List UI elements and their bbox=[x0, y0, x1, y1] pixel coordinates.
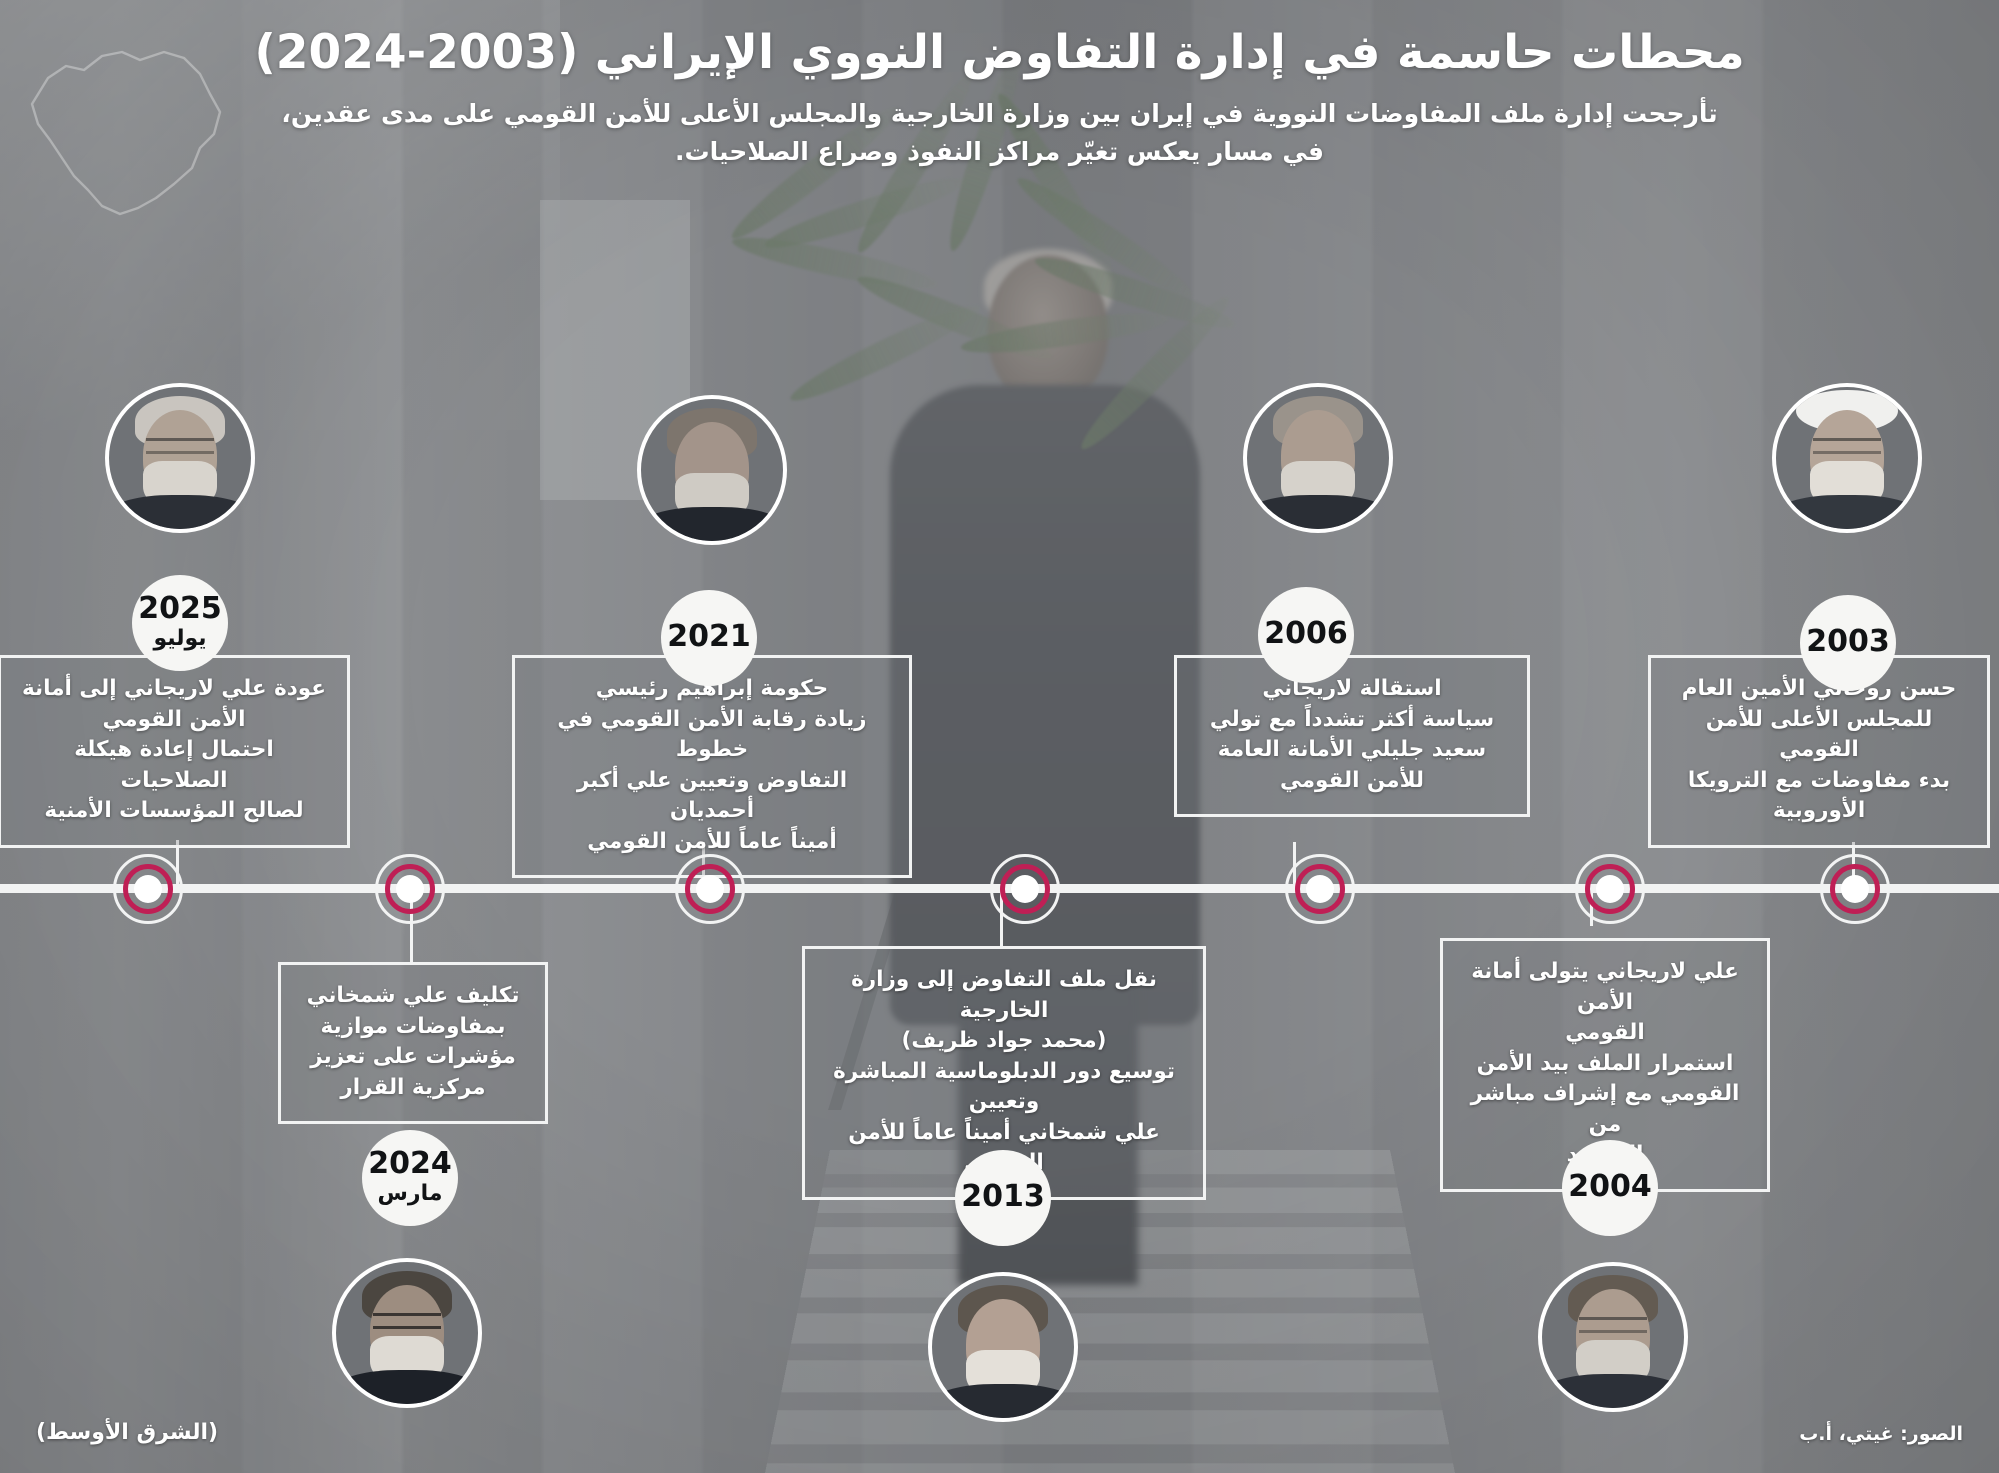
event-2025-line-2: الأمن القومي bbox=[19, 705, 329, 736]
event-card-2025[interactable]: عودة علي لاريجاني إلى أمانة الأمن القومي… bbox=[0, 655, 350, 848]
year-label-2004: 2004 bbox=[1568, 1172, 1652, 1202]
year-bubble-2003[interactable]: 2003 bbox=[1800, 595, 1896, 691]
header: محطات حاسمة في إدارة التفاوض النووي الإي… bbox=[0, 24, 1999, 170]
year-label-2003: 2003 bbox=[1806, 627, 1890, 657]
timeline-node-2024[interactable] bbox=[375, 854, 445, 924]
year-label-2013: 2013 bbox=[961, 1182, 1045, 1212]
event-2021-line-4: أميناً عاماً للأمن القومي bbox=[533, 827, 891, 858]
infographic-canvas: محطات حاسمة في إدارة التفاوض النووي الإي… bbox=[0, 0, 1999, 1473]
year-label-2024: 2024 bbox=[368, 1149, 452, 1179]
event-2003-line-2: للمجلس الأعلى للأمن القومي bbox=[1669, 705, 1969, 766]
event-card-2003[interactable]: حسن روحاني الأمين العام للمجلس الأعلى لل… bbox=[1648, 655, 1990, 848]
page-subtitle-line-1: تأرجحت إدارة ملف المفاوضات النووية في إي… bbox=[150, 95, 1849, 133]
portrait-2021 bbox=[637, 395, 787, 545]
event-2024-line-4: مركزية القرار bbox=[299, 1073, 527, 1104]
timeline-node-2003[interactable] bbox=[1820, 854, 1890, 924]
event-2025-line-1: عودة علي لاريجاني إلى أمانة bbox=[19, 674, 329, 705]
portrait-2013 bbox=[928, 1272, 1078, 1422]
year-bubble-2025[interactable]: 2025 يوليو bbox=[132, 575, 228, 671]
month-label-2025: يوليو bbox=[153, 626, 206, 651]
event-2025-line-3: احتمال إعادة هيكلة الصلاحيات bbox=[19, 735, 329, 796]
year-bubble-2021[interactable]: 2021 bbox=[661, 590, 757, 686]
event-2024-line-2: بمفاوضات موازية bbox=[299, 1012, 527, 1043]
timeline-node-2006[interactable] bbox=[1285, 854, 1355, 924]
portrait-2004 bbox=[1538, 1262, 1688, 1412]
year-label-2021: 2021 bbox=[667, 622, 751, 652]
event-2013-line-2: (محمد جواد ظريف) bbox=[823, 1026, 1185, 1057]
event-card-2021[interactable]: حكومة إبراهيم رئيسي زيادة رقابة الأمن ال… bbox=[512, 655, 912, 878]
year-label-2025: 2025 bbox=[138, 594, 222, 624]
event-2021-line-2: زيادة رقابة الأمن القومي في خطوط bbox=[533, 705, 891, 766]
timeline-node-2021[interactable] bbox=[675, 854, 745, 924]
portrait-2003 bbox=[1772, 383, 1922, 533]
event-2013-line-3: توسيع دور الدبلوماسية المباشرة وتعيين bbox=[823, 1057, 1185, 1118]
event-2004-line-1: علي لاريجاني يتولى أمانة الأمن bbox=[1461, 957, 1749, 1018]
event-2004-line-4: القومي مع إشراف مباشر من bbox=[1461, 1079, 1749, 1140]
event-2024-line-3: مؤشرات على تعزيز bbox=[299, 1042, 527, 1073]
event-2003-line-3: بدء مفاوضات مع الترويكا bbox=[1669, 766, 1969, 797]
event-2004-line-3: استمرار الملف بيد الأمن bbox=[1461, 1049, 1749, 1080]
timeline-node-2025[interactable] bbox=[113, 854, 183, 924]
month-label-2024: مارس bbox=[378, 1181, 443, 1206]
year-bubble-2006[interactable]: 2006 bbox=[1258, 587, 1354, 683]
page-subtitle-line-2: في مسار يعكس تغيّر مراكز النفوذ وصراع ال… bbox=[150, 133, 1849, 171]
portrait-2006 bbox=[1243, 383, 1393, 533]
event-2025-line-4: لصالح المؤسسات الأمنية bbox=[19, 796, 329, 827]
event-2006-line-2: سياسة أكثر تشدداً مع تولي bbox=[1195, 705, 1509, 736]
event-2013-line-1: نقل ملف التفاوض إلى وزارة الخارجية bbox=[823, 965, 1185, 1026]
year-bubble-2024[interactable]: 2024 مارس bbox=[362, 1130, 458, 1226]
year-label-2006: 2006 bbox=[1264, 619, 1348, 649]
year-bubble-2013[interactable]: 2013 bbox=[955, 1150, 1051, 1246]
timeline-node-2013[interactable] bbox=[990, 854, 1060, 924]
event-2006-line-3: سعيد جليلي الأمانة العامة bbox=[1195, 735, 1509, 766]
source-credit: (الشرق الأوسط) bbox=[36, 1420, 218, 1445]
event-card-2024[interactable]: تكليف علي شمخاني بمفاوضات موازية مؤشرات … bbox=[278, 962, 548, 1124]
event-2004-line-2: القومي bbox=[1461, 1018, 1749, 1049]
page-title: محطات حاسمة في إدارة التفاوض النووي الإي… bbox=[150, 24, 1849, 81]
event-2021-line-3: التفاوض وتعيين علي أكبر أحمديان bbox=[533, 766, 891, 827]
year-bubble-2004[interactable]: 2004 bbox=[1562, 1140, 1658, 1236]
timeline-node-2004[interactable] bbox=[1575, 854, 1645, 924]
event-2006-line-4: للأمن القومي bbox=[1195, 766, 1509, 797]
portrait-2025 bbox=[105, 383, 255, 533]
event-2006-line-1: استقالة لاريجاني bbox=[1195, 674, 1509, 705]
photo-credit: الصور: غيتي، أ.ب bbox=[1799, 1423, 1963, 1445]
event-2024-line-1: تكليف علي شمخاني bbox=[299, 981, 527, 1012]
event-card-2006[interactable]: استقالة لاريجاني سياسة أكثر تشدداً مع تو… bbox=[1174, 655, 1530, 817]
portrait-2024 bbox=[332, 1258, 482, 1408]
page-subtitle: تأرجحت إدارة ملف المفاوضات النووية في إي… bbox=[150, 95, 1849, 170]
event-2003-line-4: الأوروبية bbox=[1669, 796, 1969, 827]
